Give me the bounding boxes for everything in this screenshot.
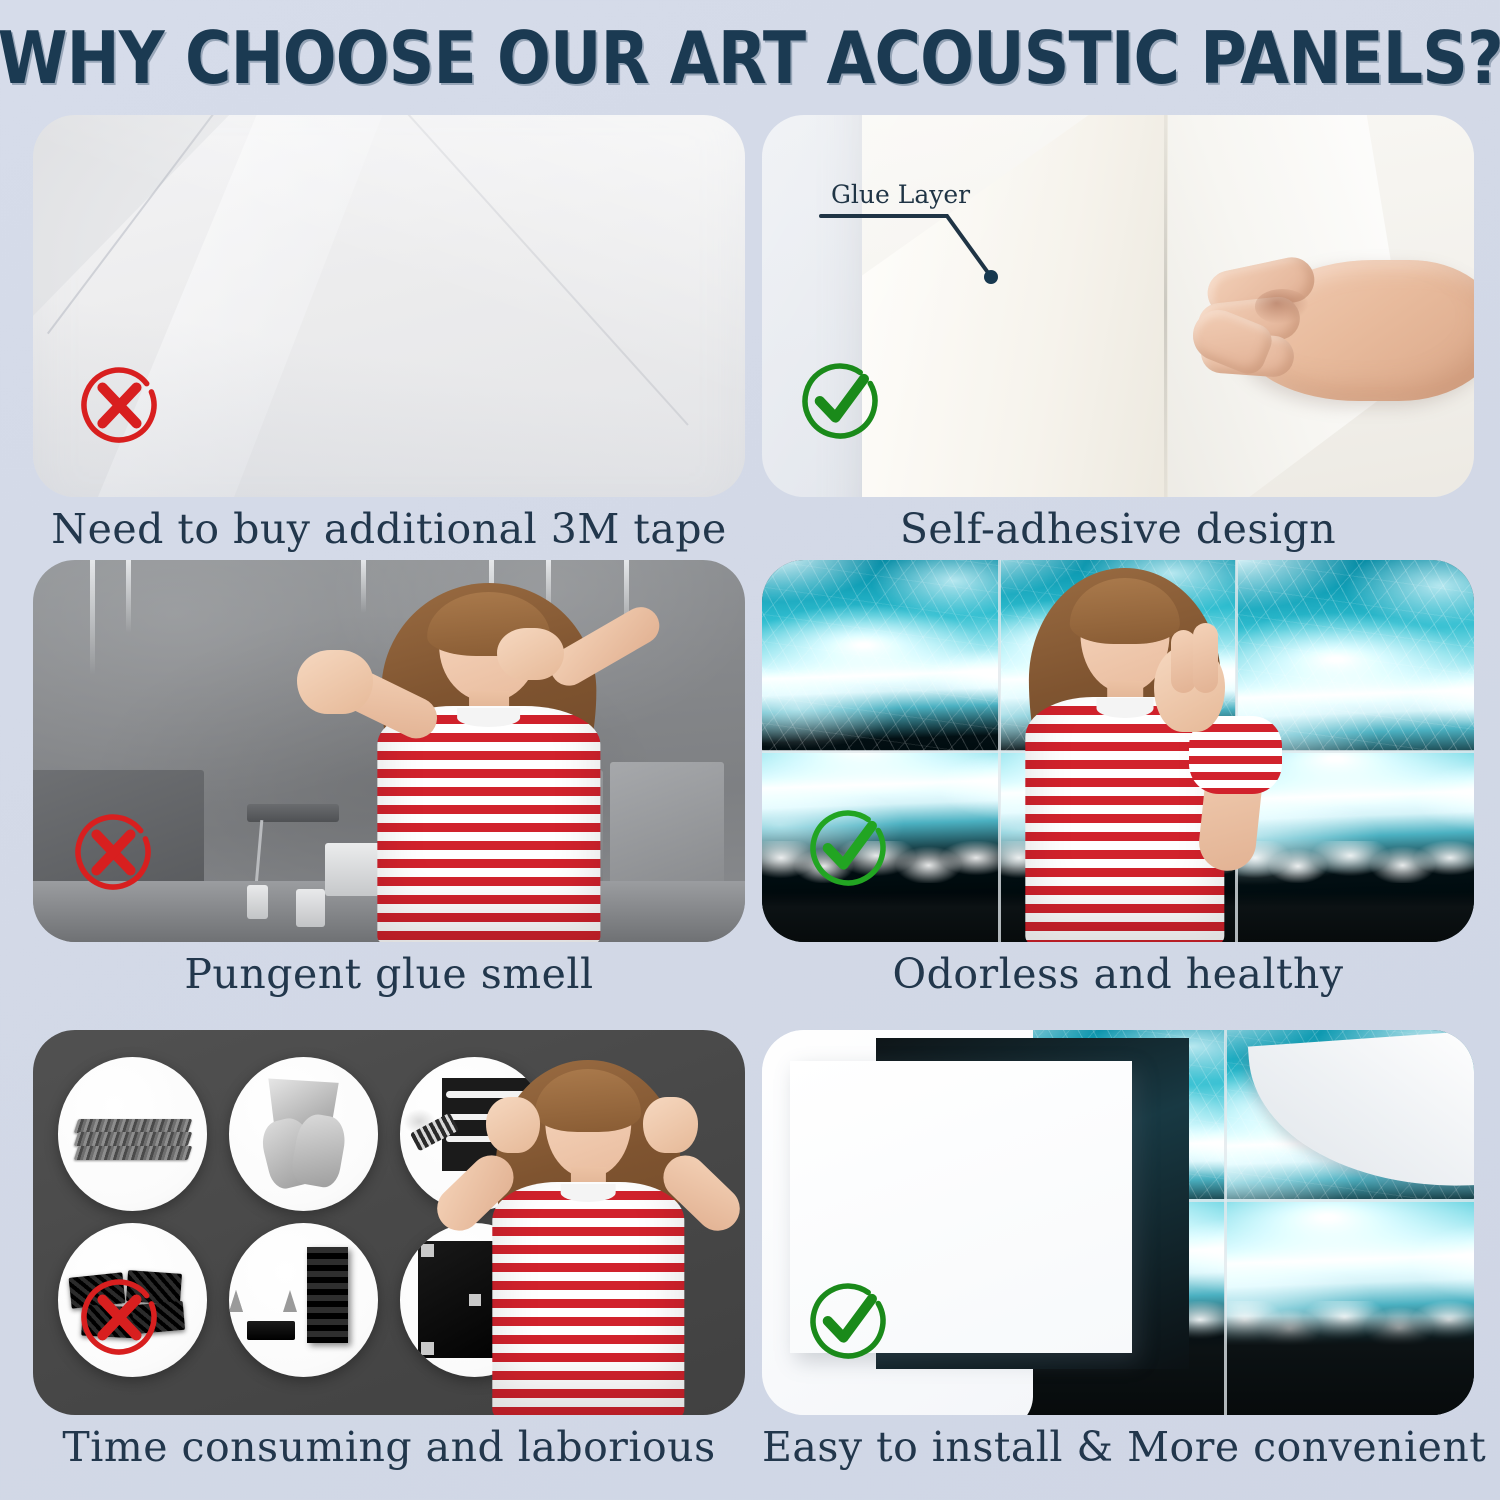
photo-install-steps <box>33 1030 745 1415</box>
hands-cloth-glyph <box>229 1057 379 1211</box>
caption-benefit-easy-install: Easy to install & More convenient <box>762 1415 1474 1479</box>
girl-ok-gesture <box>947 560 1303 942</box>
photo-plain-panel <box>33 115 745 497</box>
caption-problem-smell: Pungent glue smell <box>33 942 745 1006</box>
photo-gray-room <box>33 560 745 942</box>
paint-can-2 <box>247 885 268 919</box>
foam-slabs-icon <box>58 1057 208 1211</box>
hand-knuckle-shadow <box>1255 289 1309 323</box>
glue-layer-leader-line <box>819 210 1049 320</box>
cell-problem-tape: Need to buy additional 3M tape <box>33 115 745 570</box>
page-title-container: WHY CHOOSE OUR ART ACOUSTIC PANELS? <box>0 10 1500 105</box>
red-cross-icon <box>73 359 165 451</box>
stack-arrows-icon <box>229 1223 379 1377</box>
girl-hand-nose <box>497 628 565 680</box>
caption-benefit-odorless: Odorless and healthy <box>762 942 1474 1006</box>
cell-benefit-easy-install: Easy to install & More convenient <box>762 1030 1474 1490</box>
cell-problem-smell: Pungent glue smell <box>33 560 745 1020</box>
photo-adhesive-peel: Glue Layer <box>762 115 1474 497</box>
girl-striped-shirt <box>493 1182 684 1415</box>
up-arrow-icon <box>229 1290 243 1312</box>
comparison-grid: Need to buy additional 3M tape <box>0 105 1500 1500</box>
girl-hand-temple-left <box>486 1097 541 1152</box>
panel-base <box>247 1321 295 1339</box>
girl-hand-stop <box>297 650 373 714</box>
girl-headache <box>417 1045 745 1415</box>
girl-striped-shirt <box>377 706 600 942</box>
girl-collar <box>457 708 521 727</box>
caption-problem-tape: Need to buy additional 3M tape <box>33 497 745 561</box>
wall-drip <box>126 560 131 633</box>
page-title: WHY CHOOSE OUR ART ACOUSTIC PANELS? <box>0 20 1500 96</box>
art-dark-band <box>1225 1316 1474 1415</box>
glue-layer-label: Glue Layer <box>819 180 1049 209</box>
stack-arrows-glyph <box>229 1223 379 1377</box>
cell-benefit-adhesive: Glue Layer Self-adhesive design <box>762 115 1474 570</box>
foam-slabs-glyph <box>58 1057 208 1211</box>
art-tile <box>1225 1199 1474 1415</box>
girl-holding-nose <box>289 568 688 942</box>
tile-grout-line <box>1224 1030 1227 1415</box>
green-check-icon <box>802 802 894 894</box>
girl-finger-up-2 <box>1193 623 1218 693</box>
photo-peel-and-stick <box>762 1030 1474 1415</box>
glue-layer-annotation: Glue Layer <box>819 180 1049 320</box>
panel-tower <box>307 1247 349 1342</box>
hands-cloth-icon <box>229 1057 379 1211</box>
green-check-icon <box>802 1275 894 1367</box>
photo-ocean-wall <box>762 560 1474 942</box>
hand-peeling <box>1189 230 1474 444</box>
caption-benefit-adhesive: Self-adhesive design <box>762 497 1474 561</box>
girl-hand-temple-right <box>643 1097 698 1152</box>
cell-problem-laborious: Time consuming and laborious <box>33 1030 745 1490</box>
cell-benefit-odorless: Odorless and healthy <box>762 560 1474 1020</box>
up-arrow-icon <box>283 1290 297 1312</box>
wall-drip <box>90 560 95 675</box>
caption-problem-laborious: Time consuming and laborious <box>33 1415 745 1479</box>
green-check-icon <box>794 355 886 447</box>
infographic-page: WHY CHOOSE OUR ART ACOUSTIC PANELS? Ne <box>0 0 1500 1500</box>
red-cross-icon <box>73 1271 165 1363</box>
red-cross-icon <box>67 806 159 898</box>
